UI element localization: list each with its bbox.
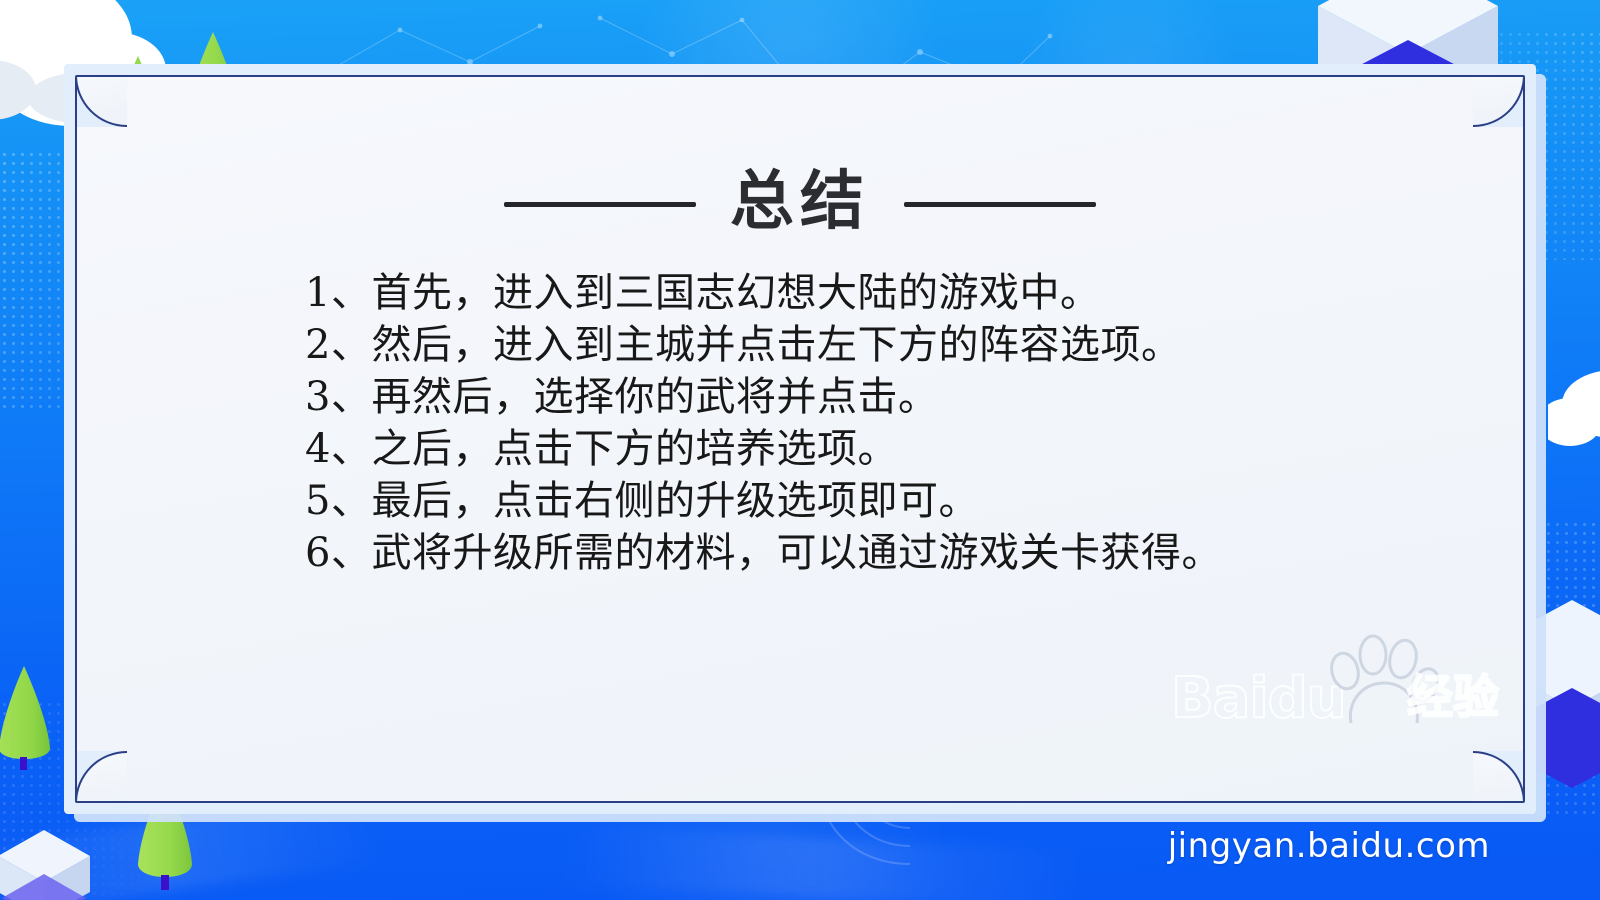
summary-body-text: 1、首先，进入到三国志幻想大陆的游戏中。 2、然后，进入到主城并点击左下方的阵容… bbox=[305, 267, 1315, 579]
card-corner-notch-bottom-right bbox=[1473, 751, 1523, 801]
card-corner-notch-top-right bbox=[1473, 77, 1523, 127]
card-inner-border: 总结 1、首先，进入到三国志幻想大陆的游戏中。 2、然后，进入到主城并点击左下方… bbox=[75, 75, 1525, 803]
slide-canvas: 总结 1、首先，进入到三国志幻想大陆的游戏中。 2、然后，进入到主城并点击左下方… bbox=[0, 0, 1600, 900]
baidu-paw-icon bbox=[1321, 627, 1439, 725]
card-corner-notch-top-left bbox=[77, 77, 127, 127]
content-card: 总结 1、首先，进入到三国志幻想大陆的游戏中。 2、然后，进入到主城并点击左下方… bbox=[64, 64, 1536, 814]
page-title: 总结 bbox=[730, 170, 870, 234]
title-rule-right-icon bbox=[904, 202, 1096, 207]
baidu-watermark: Baidu 经验 bbox=[1171, 629, 1501, 739]
title-rule-left-icon bbox=[504, 202, 696, 207]
watermark-cn-text: 经验 bbox=[1407, 661, 1499, 727]
watermark-brand-text: Baidu bbox=[1171, 666, 1346, 731]
card-corner-notch-bottom-left bbox=[77, 751, 127, 801]
card-title-row: 总结 bbox=[77, 172, 1523, 236]
card-paper-surface: 总结 1、首先，进入到三国志幻想大陆的游戏中。 2、然后，进入到主城并点击左下方… bbox=[77, 77, 1523, 801]
watermark-url: jingyan.baidu.com bbox=[1168, 826, 1490, 866]
